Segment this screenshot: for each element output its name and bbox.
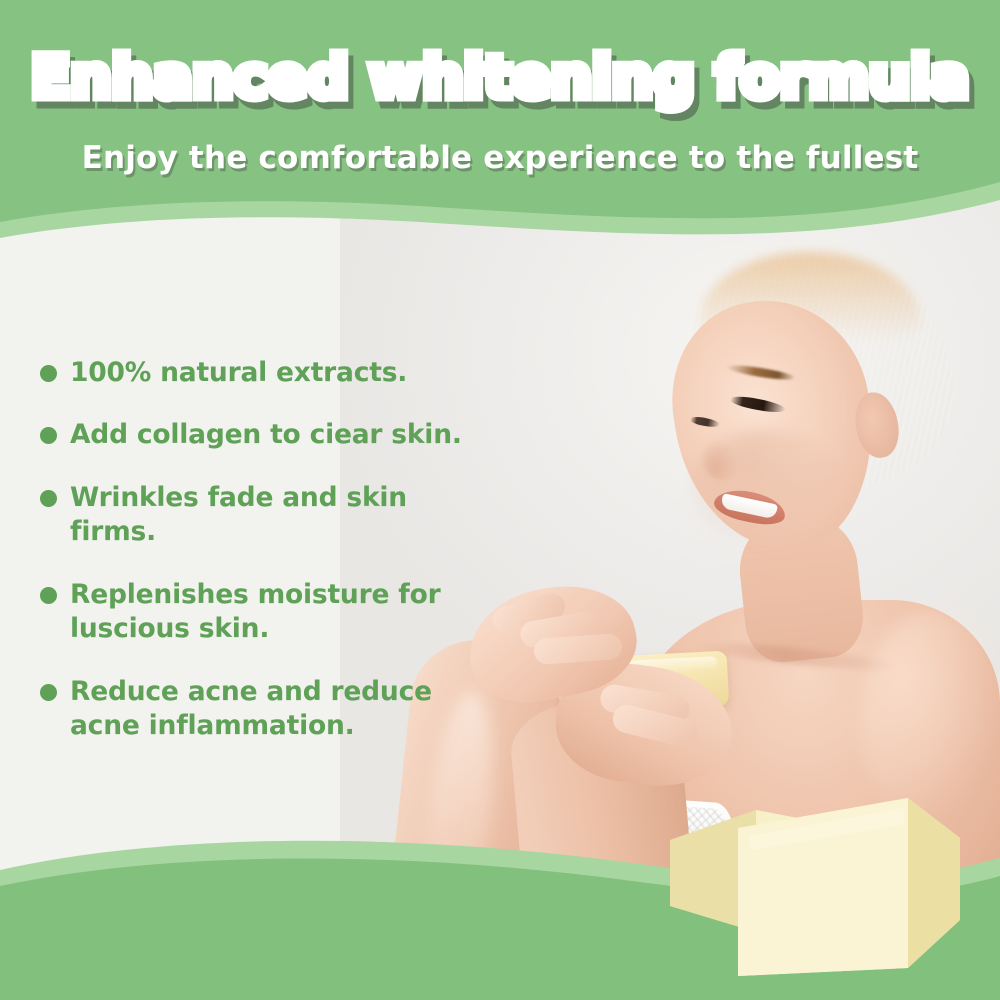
headline-container: Enhanced whitening formula	[0, 48, 1000, 107]
bullet-dot-icon	[40, 490, 57, 507]
nose	[703, 438, 739, 480]
subtitle: Enjoy the comfortable experience to the …	[0, 140, 1000, 176]
soap-bars	[660, 780, 1000, 1000]
list-item: Add collagen to ciear skin.	[40, 418, 470, 452]
list-item: Replenishes moisture for luscious skin.	[40, 578, 470, 647]
list-item: Wrinkles fade and skin firms.	[40, 481, 470, 550]
list-item-label: Add collagen to ciear skin.	[70, 418, 462, 452]
bullet-dot-icon	[40, 587, 57, 604]
bullet-dot-icon	[40, 684, 57, 701]
list-item-label: Reduce acne and reduce acne inflammation…	[70, 675, 470, 744]
soap-bars-shape	[660, 780, 1000, 1000]
bullet-dot-icon	[40, 365, 57, 382]
header-wave-shape	[0, 0, 1000, 262]
list-item: 100% natural extracts.	[40, 356, 470, 390]
product-ad-banner: Enhanced whitening formula Enjoy the com…	[0, 0, 1000, 1000]
list-item-label: 100% natural extracts.	[70, 356, 407, 390]
bullet-dot-icon	[40, 427, 57, 444]
page-title: Enhanced whitening formula	[31, 48, 969, 107]
soap-bar-front-icon	[738, 798, 960, 976]
header-band	[0, 0, 1000, 262]
list-item-label: Replenishes moisture for luscious skin.	[70, 578, 470, 647]
list-item-label: Wrinkles fade and skin firms.	[70, 481, 470, 550]
list-item: Reduce acne and reduce acne inflammation…	[40, 675, 470, 744]
benefits-list: 100% natural extracts. Add collagen to c…	[40, 356, 470, 744]
